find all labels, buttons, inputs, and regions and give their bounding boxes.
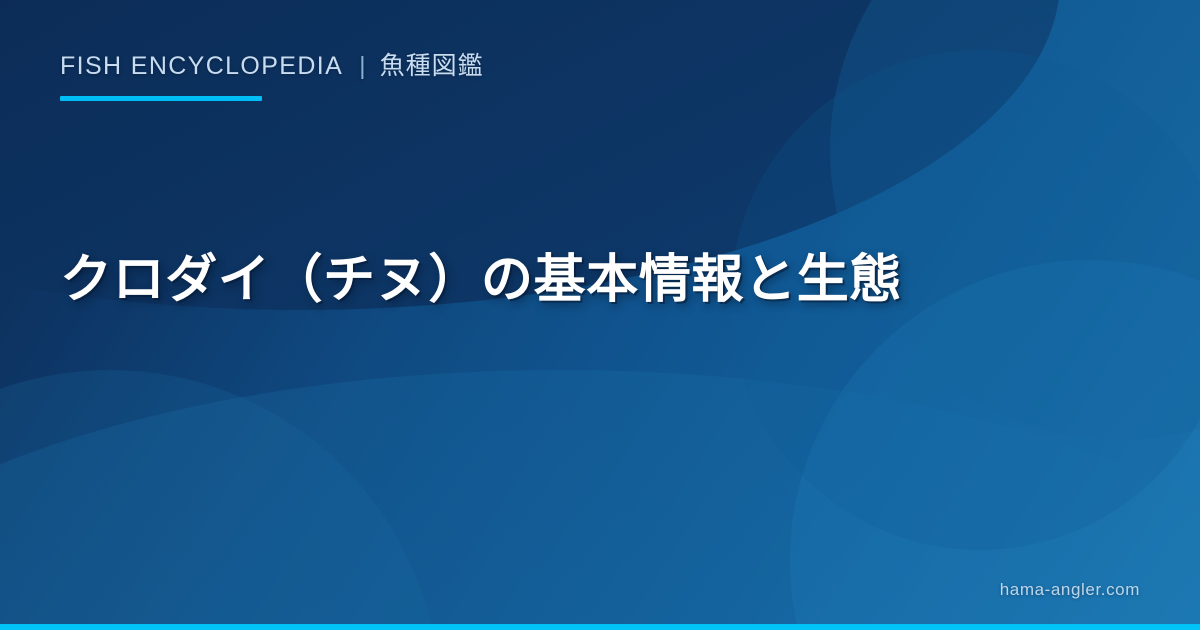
eyebrow-japanese-label: 魚種図鑑 xyxy=(380,54,484,79)
og-card: FISH ENCYCLOPEDIA | 魚種図鑑 クロダイ（チヌ）の基本情報と生… xyxy=(0,0,1200,630)
page-title: クロダイ（チヌ）の基本情報と生態 xyxy=(60,246,1140,315)
bottom-accent-bar xyxy=(0,624,1200,630)
card-content: FISH ENCYCLOPEDIA | 魚種図鑑 クロダイ（チヌ）の基本情報と生… xyxy=(0,0,1200,630)
site-watermark: hama-angler.com xyxy=(1000,580,1140,600)
eyebrow-row: FISH ENCYCLOPEDIA | 魚種図鑑 xyxy=(60,54,484,79)
eyebrow-separator-icon: | xyxy=(343,54,380,79)
accent-underline-bar xyxy=(60,96,262,101)
eyebrow-latin-label: FISH ENCYCLOPEDIA xyxy=(60,54,343,79)
eyebrow: FISH ENCYCLOPEDIA | 魚種図鑑 xyxy=(60,54,484,79)
